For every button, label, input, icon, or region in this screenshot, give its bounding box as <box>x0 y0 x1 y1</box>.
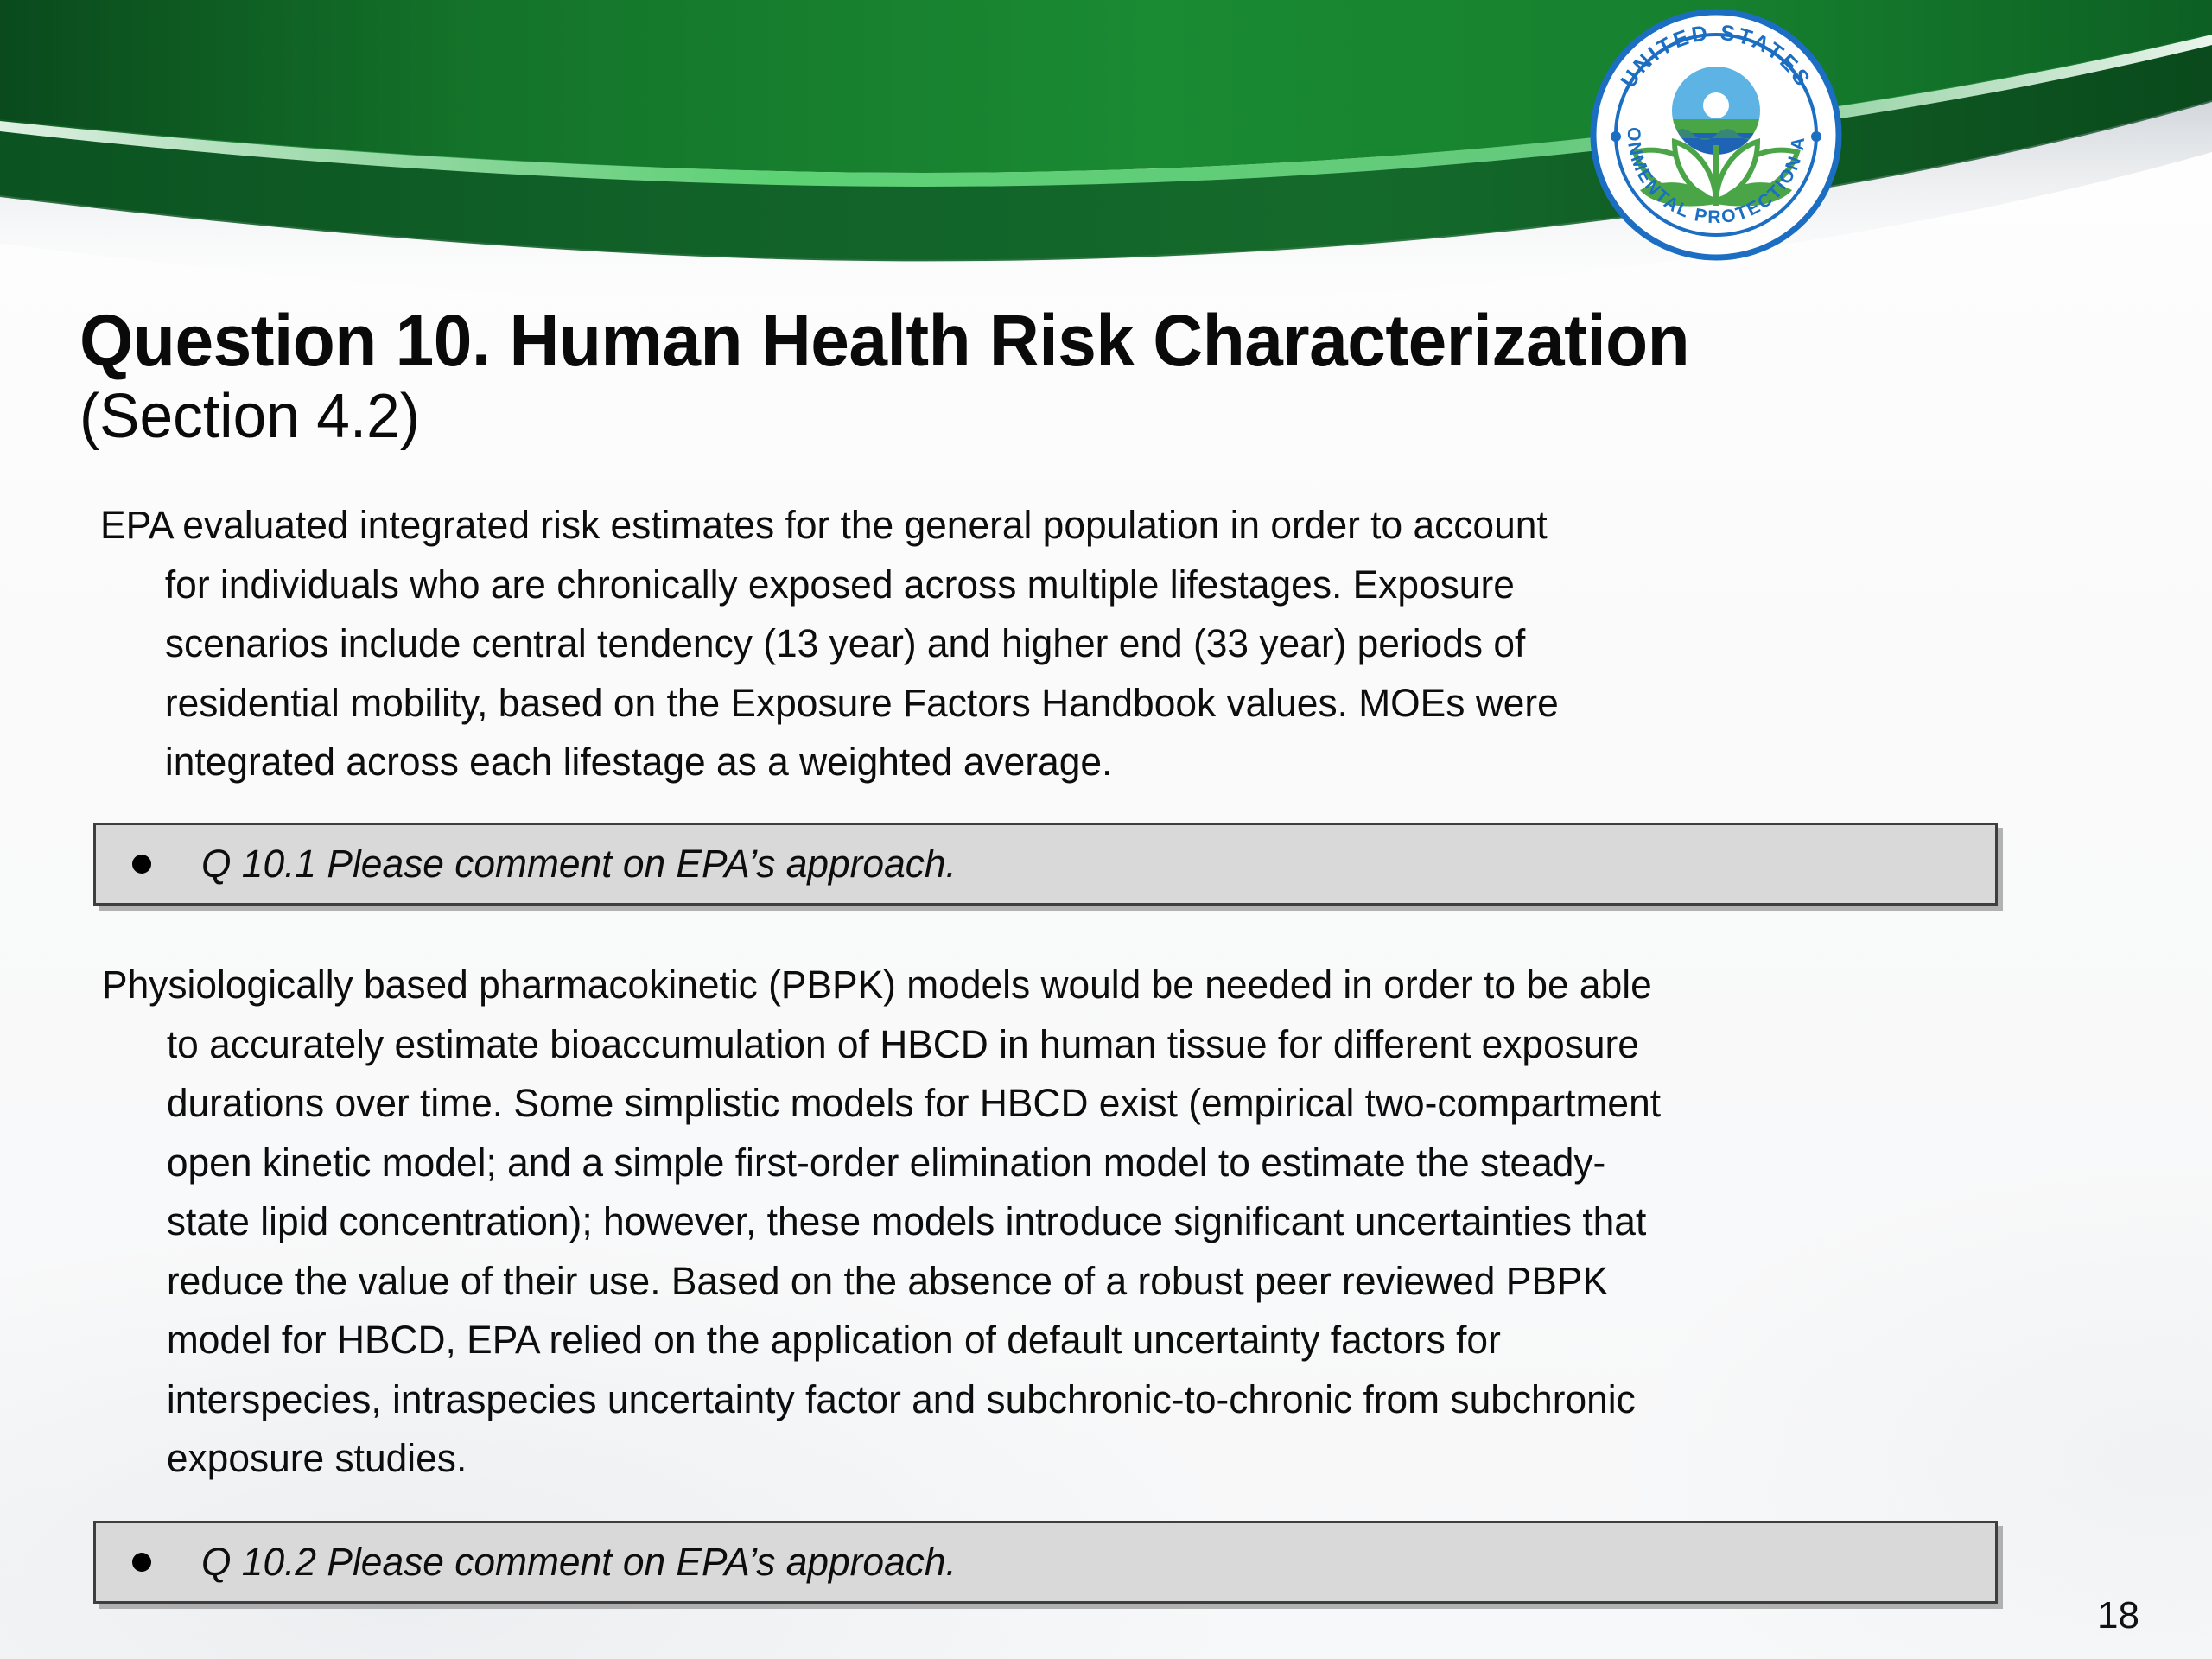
epa-seal-icon: UNITED STATES ENVIRONMENTAL PROTECTION A… <box>1588 7 1844 263</box>
paragraph-pbpk-line: model for HBCD, EPA relied on the applic… <box>102 1311 2127 1370</box>
paragraph-pbpk-line: state lipid concentration); however, the… <box>102 1192 2127 1252</box>
slide-canvas: UNITED STATES ENVIRONMENTAL PROTECTION A… <box>0 0 2212 1659</box>
question-callout-q10-2[interactable]: Q 10.2 Please comment on EPA’s approach. <box>93 1521 1998 1604</box>
paragraph-pbpk-line: open kinetic model; and a simple first-o… <box>102 1134 2127 1193</box>
paragraph-pbpk-line: interspecies, intraspecies uncertainty f… <box>102 1370 2127 1430</box>
question-callout-q10-1[interactable]: Q 10.1 Please comment on EPA’s approach. <box>93 823 1998 906</box>
title-section-line: (Section 4.2) <box>79 384 2081 451</box>
paragraph-pbpk-line: to accurately estimate bioaccumulation o… <box>102 1015 2127 1075</box>
paragraph-intro-line: EPA evaluated integrated risk estimates … <box>100 496 2092 556</box>
paragraph-intro-line: scenarios include central tendency (13 y… <box>100 614 2092 674</box>
bullet-icon <box>132 855 151 874</box>
bullet-icon <box>132 1553 151 1572</box>
paragraph-pbpk: Physiologically based pharmacokinetic (P… <box>102 956 2127 1489</box>
paragraph-intro-line: integrated across each lifestage as a we… <box>100 733 2092 792</box>
paragraph-intro-line: residential mobility, based on the Expos… <box>100 674 2092 734</box>
header-banner <box>0 0 2212 311</box>
paragraph-pbpk-line: reduce the value of their use. Based on … <box>102 1252 2127 1312</box>
question-callout-text: Q 10.1 Please comment on EPA’s approach. <box>201 842 957 887</box>
page-title: Question 10. Human Health Risk Character… <box>79 304 2153 450</box>
paragraph-pbpk-line: durations over time. Some simplistic mod… <box>102 1074 2127 1134</box>
paragraph-intro: EPA evaluated integrated risk estimates … <box>100 496 2092 792</box>
paragraph-intro-line: for individuals who are chronically expo… <box>100 556 2092 615</box>
title-main-line: Question 10. Human Health Risk Character… <box>79 304 2060 378</box>
page-number: 18 <box>2097 1597 2139 1635</box>
paragraph-pbpk-line: exposure studies. <box>102 1429 2127 1489</box>
paragraph-pbpk-line: Physiologically based pharmacokinetic (P… <box>102 956 2127 1015</box>
question-callout-text: Q 10.2 Please comment on EPA’s approach. <box>201 1540 957 1585</box>
